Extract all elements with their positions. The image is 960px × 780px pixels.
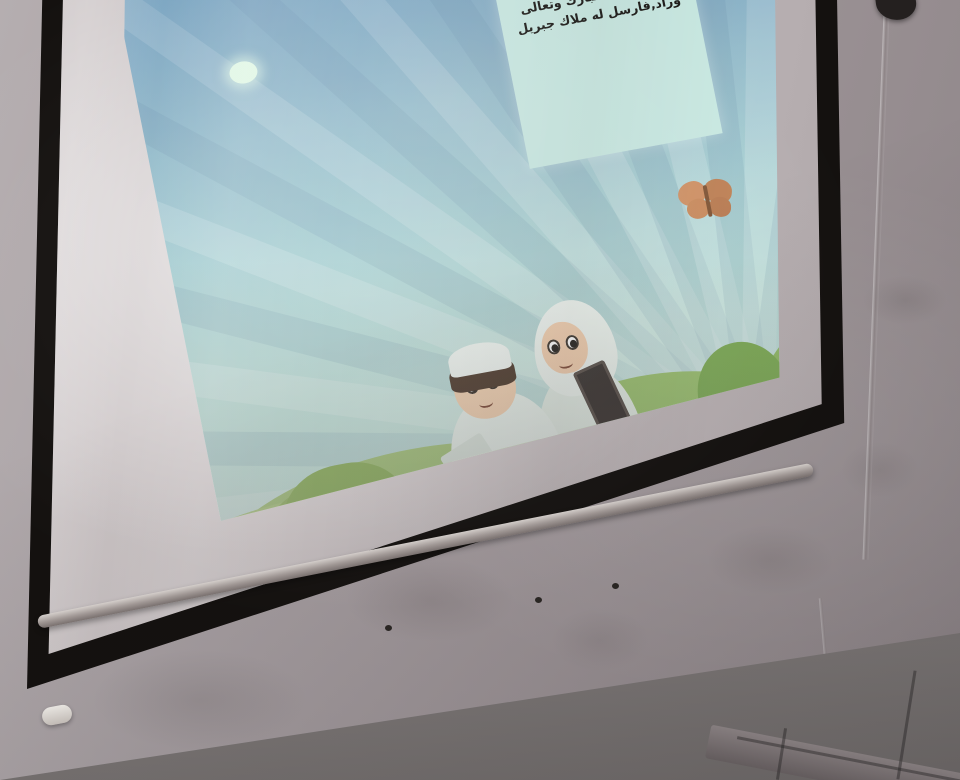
weight-bar-screw (612, 583, 619, 589)
weight-bar-screw (385, 625, 392, 631)
photo-scene: في يوم ذهب النبي محمد صلى الله عليه وسلم… (0, 0, 960, 780)
screen-fabric-sheen (0, 0, 900, 696)
weight-bar-screw (535, 597, 542, 603)
projection-screen[interactable]: في يوم ذهب النبي محمد صلى الله عليه وسلم… (0, 0, 900, 696)
